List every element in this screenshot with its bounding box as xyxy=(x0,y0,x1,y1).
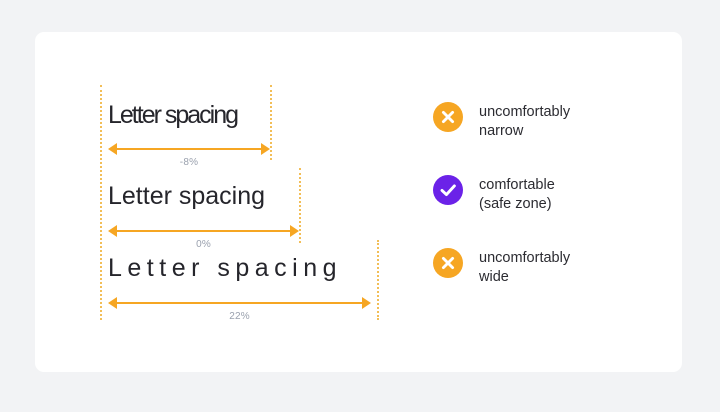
legend-item-label: comfortable (safe zone) xyxy=(479,175,555,214)
content-card: Letter spacing -8% Letter spacing 0% xyxy=(35,32,682,372)
sample-row-comfortable: Letter spacing 0% xyxy=(35,168,415,243)
diagram-canvas: Letter spacing -8% Letter spacing 0% xyxy=(0,0,720,412)
measure-arrow-wide xyxy=(108,297,371,309)
arrow-head-right-icon xyxy=(261,143,270,155)
legend-item-comfortable: comfortable (safe zone) xyxy=(433,175,555,214)
legend-item-narrow: uncomfortably narrow xyxy=(433,102,570,141)
arrow-bar xyxy=(115,230,292,232)
legend-item-label: uncomfortably narrow xyxy=(479,102,570,141)
arrow-bar xyxy=(115,148,263,150)
legend-item-label: uncomfortably wide xyxy=(479,248,570,287)
measure-arrow-narrow xyxy=(108,143,270,155)
arrow-head-right-icon xyxy=(362,297,371,309)
arrow-head-right-icon xyxy=(290,225,299,237)
letter-spacing-demo: Letter spacing -8% Letter spacing 0% xyxy=(35,32,415,372)
sample-row-narrow: Letter spacing -8% xyxy=(35,85,415,160)
percent-label-narrow: -8% xyxy=(108,157,270,168)
guide-line-comfortable-right xyxy=(299,168,301,243)
guide-line-narrow-right xyxy=(270,85,272,160)
sample-text-narrow: Letter spacing xyxy=(108,101,237,130)
legend-item-wide: uncomfortably wide xyxy=(433,248,570,287)
guide-line-wide-right xyxy=(377,240,379,320)
arrow-bar xyxy=(115,302,364,304)
percent-label-wide: 22% xyxy=(108,311,371,322)
measure-arrow-comfortable xyxy=(108,225,299,237)
sample-text-comfortable: Letter spacing xyxy=(108,182,265,211)
sample-text-wide: Letter spacing xyxy=(108,254,342,283)
check-circle-icon xyxy=(433,175,463,205)
x-circle-icon xyxy=(433,102,463,132)
x-circle-icon xyxy=(433,248,463,278)
sample-row-wide: Letter spacing 22% xyxy=(35,240,415,320)
